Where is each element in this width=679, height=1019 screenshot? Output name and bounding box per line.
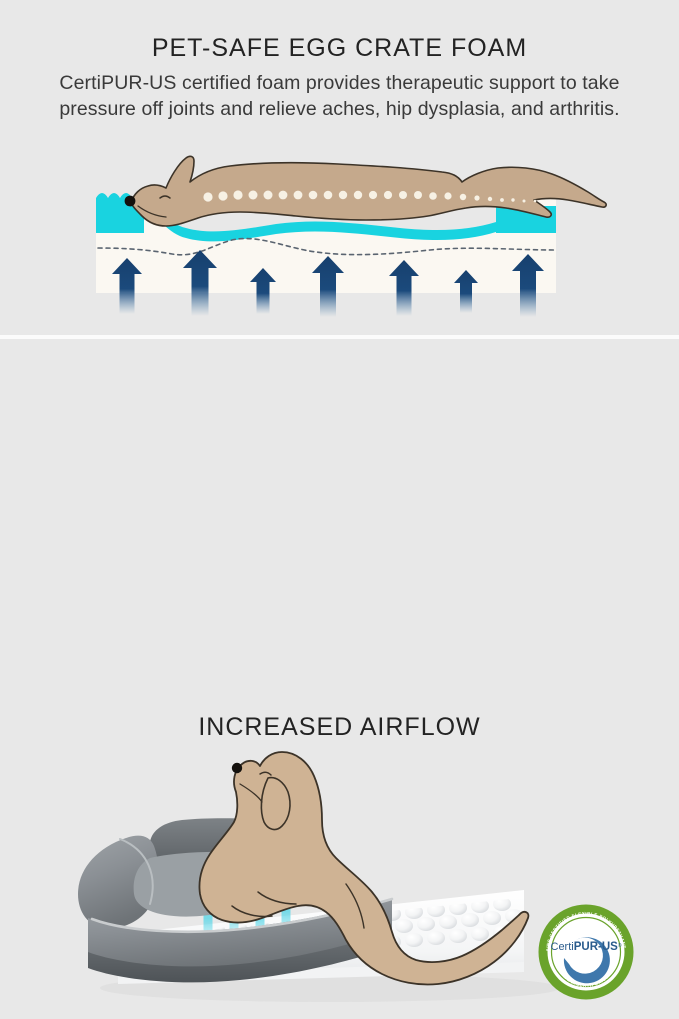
dog-on-foam-cross-section-illustration xyxy=(0,128,679,338)
dog-on-bolster-bed-illustration: CertiPUR-US® CONTAINS CERTIFIED FLEXIBLE… xyxy=(0,738,679,1019)
page-title: PET-SAFE EGG CRATE FOAM xyxy=(0,33,679,63)
certipur-us-seal: CertiPUR-US® CONTAINS CERTIFIED FLEXIBLE… xyxy=(542,908,630,996)
dog-nose xyxy=(232,763,242,773)
badge-wordmark: CertiPUR-US® xyxy=(550,941,621,953)
panel-pet-safe-egg-crate-foam: PET-SAFE EGG CRATE FOAM CertiPUR-US cert… xyxy=(0,0,679,337)
product-infographic: PET-SAFE EGG CRATE FOAM CertiPUR-US cert… xyxy=(0,0,679,679)
panel-divider xyxy=(0,335,679,339)
dog-nose xyxy=(125,196,136,207)
panel-increased-airflow: INCREASED AIRFLOW xyxy=(0,340,679,679)
panel-subtitle: CertiPUR-US certified foam provides ther… xyxy=(20,70,659,122)
